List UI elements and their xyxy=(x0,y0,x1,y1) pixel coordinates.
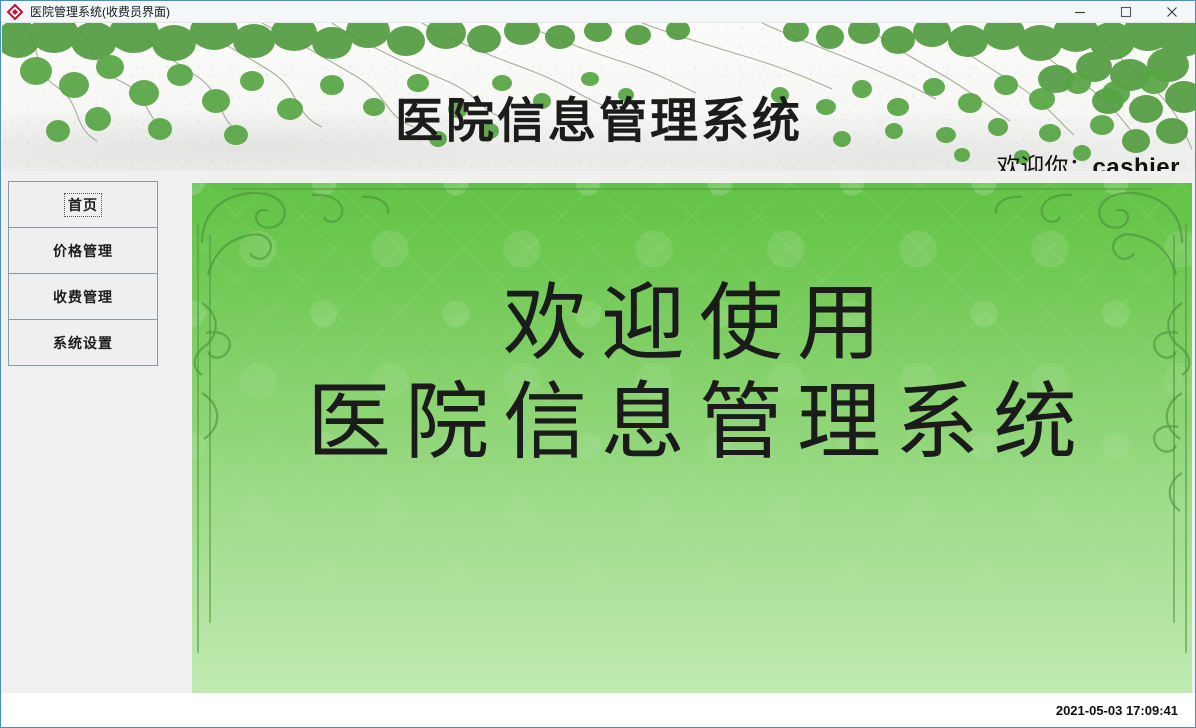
sidebar-item-system-settings[interactable]: 系统设置 xyxy=(8,319,158,366)
sidebar-item-price-management[interactable]: 价格管理 xyxy=(8,227,158,274)
status-datetime: 2021-05-03 17:09:41 xyxy=(1056,703,1178,718)
welcome-line-1: 欢迎使用 xyxy=(489,275,895,374)
status-bar: 2021-05-03 17:09:41 xyxy=(2,693,1196,727)
welcome-content-panel: 欢迎使用 医院信息管理系统 xyxy=(192,183,1192,693)
sidebar-item-label: 系统设置 xyxy=(50,332,116,354)
sidebar-item-label: 价格管理 xyxy=(50,240,116,262)
sidebar-item-label: 收费管理 xyxy=(50,286,116,308)
page-title: 医院信息管理系统 xyxy=(2,81,1196,151)
app-diamond-icon xyxy=(6,3,24,21)
welcome-label: 欢迎你： xyxy=(996,155,1092,171)
minimize-icon[interactable] xyxy=(1057,1,1103,23)
welcome-text-block: 欢迎使用 医院信息管理系统 xyxy=(192,183,1192,693)
sidebar-item-home[interactable]: 首页 xyxy=(8,181,158,228)
sidebar-item-charge-management[interactable]: 收费管理 xyxy=(8,273,158,320)
window-title: 医院管理系统(收费员界面) xyxy=(30,3,170,20)
current-username: cashier xyxy=(1092,154,1180,171)
window-controls xyxy=(1057,1,1195,23)
body-area: 首页 价格管理 收费管理 系统设置 xyxy=(2,171,1196,693)
header-banner: 医院信息管理系统 欢迎你：cashier xyxy=(2,23,1196,171)
maximize-icon[interactable] xyxy=(1103,1,1149,23)
welcome-line-2: 医院信息管理系统 xyxy=(293,374,1091,473)
application-window: 医院管理系统(收费员界面) xyxy=(0,0,1196,728)
welcome-message: 欢迎你：cashier xyxy=(996,147,1180,171)
title-bar: 医院管理系统(收费员界面) xyxy=(1,1,1195,23)
sidebar-item-label: 首页 xyxy=(64,193,102,217)
close-icon[interactable] xyxy=(1149,1,1195,23)
sidebar-navigation: 首页 价格管理 收费管理 系统设置 xyxy=(8,181,158,365)
